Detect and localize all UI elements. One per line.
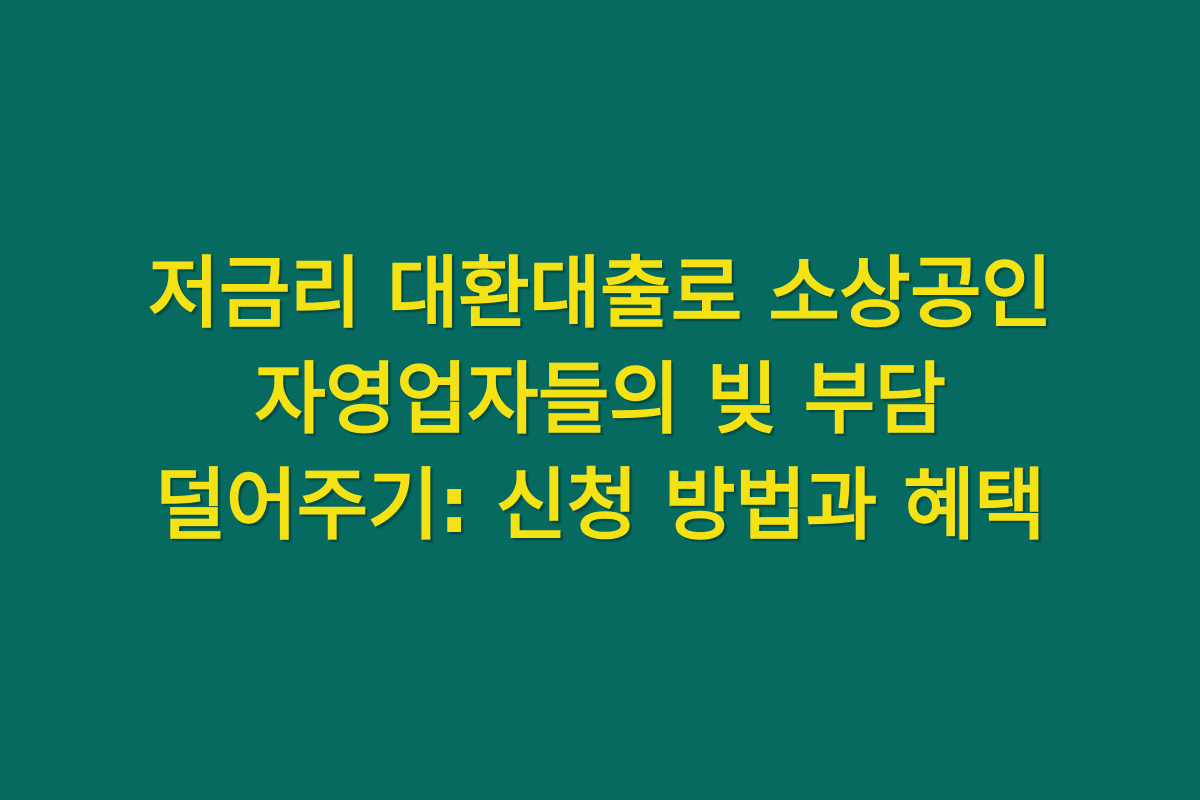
page-title: 저금리 대환대출로 소상공인 자영업자들의 빚 부담 덜어주기: 신청 방법과 … — [20, 241, 1180, 559]
headline-line-2: 자영업자들의 빚 부담 — [23, 347, 1177, 453]
headline-line-3: 덜어주기: 신청 방법과 혜택 — [23, 453, 1177, 559]
headline-line-1: 저금리 대환대출로 소상공인 — [23, 241, 1177, 347]
thumbnail-card: 저금리 대환대출로 소상공인 자영업자들의 빚 부담 덜어주기: 신청 방법과 … — [0, 0, 1200, 800]
